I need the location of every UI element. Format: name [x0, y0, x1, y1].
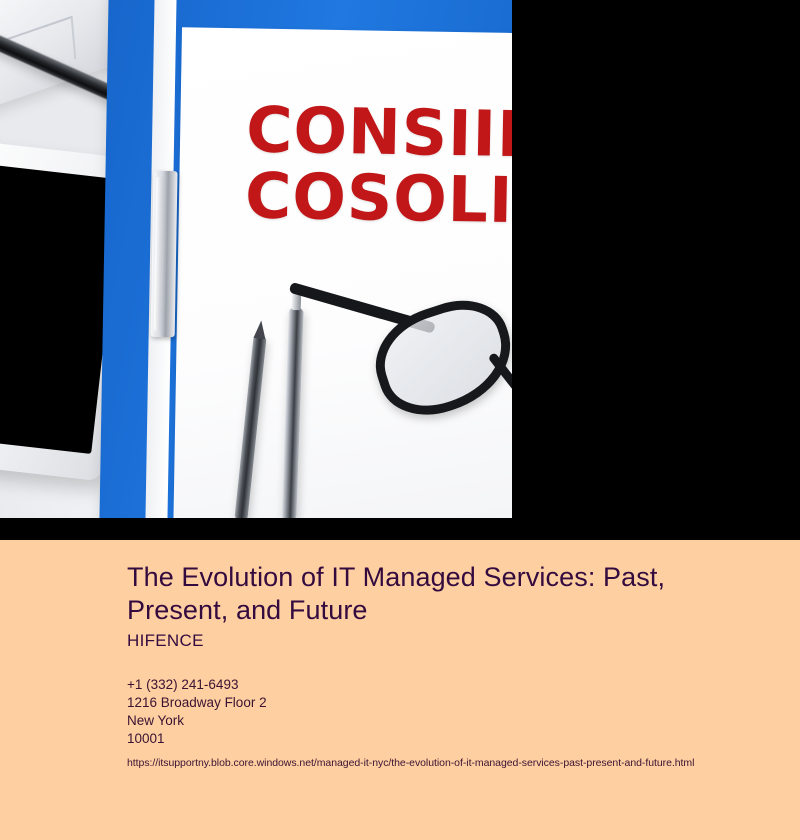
contact-street: 1216 Broadway Floor 2 — [127, 694, 267, 712]
article-content: The Evolution of IT Managed Services: Pa… — [0, 540, 800, 840]
contact-city: New York — [127, 712, 267, 730]
contact-zip: 10001 — [127, 730, 267, 748]
contact-block: +1 (332) 241-6493 1216 Broadway Floor 2 … — [127, 676, 267, 748]
eyeglasses — [360, 277, 512, 496]
source-url-link[interactable]: https://itsupportny.blob.core.windows.ne… — [127, 757, 694, 769]
article-hero-image: CONSIINT COSOLIT — [0, 0, 512, 518]
hero-banner: CONSIINT COSOLIT — [0, 0, 800, 540]
paper-text-line-2: COSOLIT — [245, 162, 512, 235]
page-title: The Evolution of IT Managed Services: Pa… — [127, 561, 727, 628]
metal-clip — [151, 171, 178, 337]
contact-phone[interactable]: +1 (332) 241-6493 — [127, 676, 267, 694]
brand-name: HIFENCE — [127, 631, 204, 651]
